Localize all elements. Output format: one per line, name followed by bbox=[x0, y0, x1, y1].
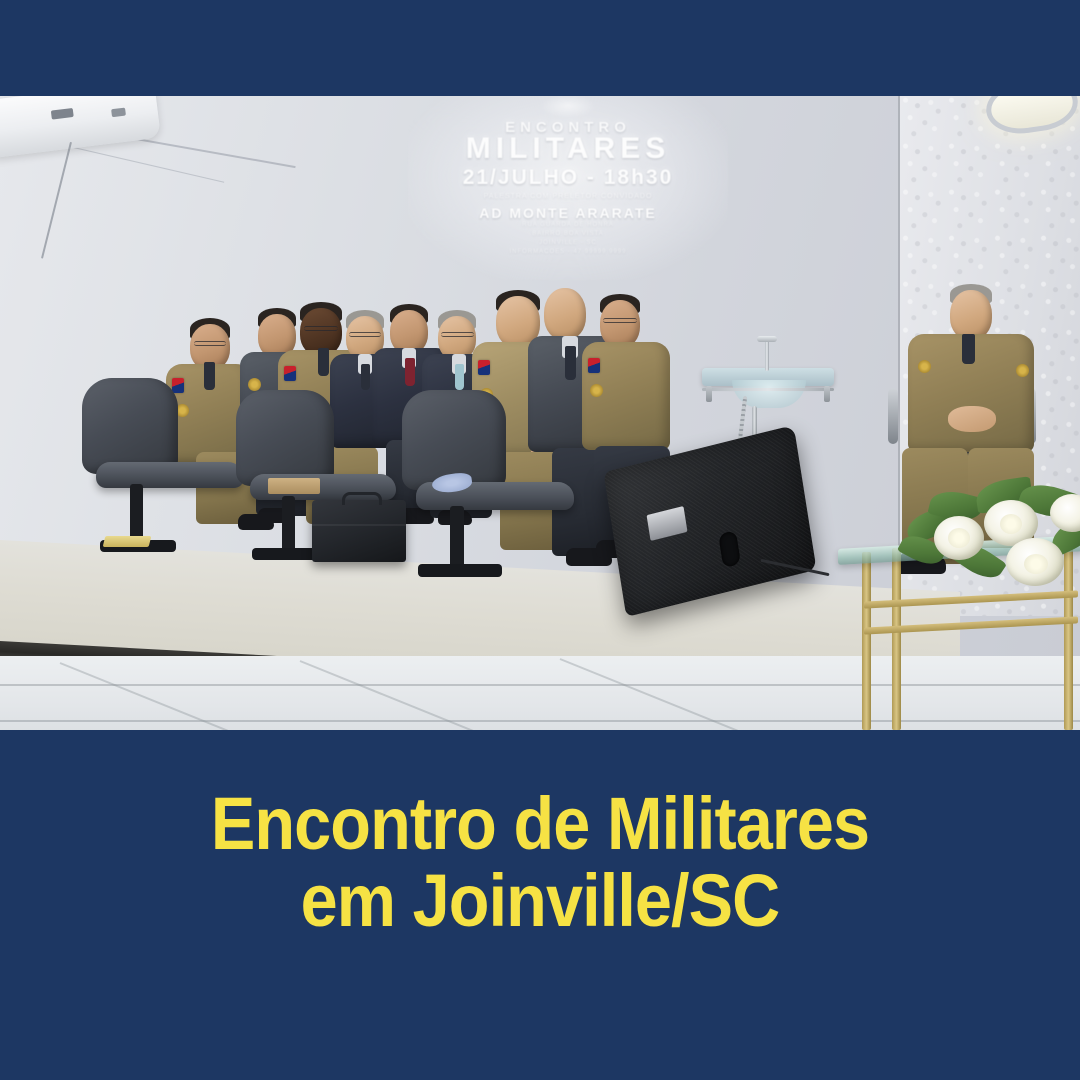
glasses-icon bbox=[304, 326, 338, 331]
chair-leg bbox=[450, 506, 464, 572]
projection-screen: ENCONTRO MILITARES 21/JULHO - 18h30 PALE… bbox=[408, 96, 728, 280]
floor-grout-line bbox=[0, 684, 1080, 686]
glasses-icon bbox=[194, 341, 226, 346]
table-leg bbox=[862, 552, 871, 730]
necktie bbox=[962, 334, 975, 364]
head bbox=[950, 290, 992, 340]
flag-patch-icon bbox=[478, 360, 490, 375]
slide-line-3: 21/JULHO - 18h30 bbox=[408, 166, 728, 190]
slide-line-2: MILITARES bbox=[408, 134, 728, 165]
necktie bbox=[455, 364, 464, 390]
bench-chair-backrest[interactable] bbox=[82, 378, 178, 474]
necktie bbox=[204, 362, 215, 390]
basin-rail bbox=[702, 388, 834, 391]
clasped-hands bbox=[948, 406, 996, 432]
poster-canvas: ENCONTRO MILITARES 21/JULHO - 18h30 PALE… bbox=[0, 0, 1080, 1080]
necktie bbox=[361, 364, 370, 390]
slide-line-9: INFORMACOES - 47 99999 9999 bbox=[408, 248, 728, 257]
faucet-head-icon bbox=[757, 336, 777, 342]
white-rose bbox=[1050, 494, 1080, 532]
caption-line-2: em Joinville/SC bbox=[54, 863, 1026, 940]
head bbox=[544, 288, 586, 340]
slide-line-5: AD MONTE ARARATE bbox=[408, 205, 728, 221]
chair-leg bbox=[282, 496, 295, 556]
basin-bracket-left bbox=[706, 386, 712, 402]
flag-patch-icon bbox=[284, 366, 296, 381]
briefcase-seam bbox=[312, 524, 406, 526]
necktie bbox=[318, 348, 329, 376]
slide-line-6: RUA GUARDA DE HONRA bbox=[408, 221, 728, 230]
flower-arrangement bbox=[900, 476, 1080, 586]
briefcase bbox=[312, 500, 406, 562]
tile-floor bbox=[0, 656, 1080, 730]
unit-emblem-icon bbox=[918, 360, 931, 373]
slide-line-7: BAIRRO BOA VISTA bbox=[408, 230, 728, 239]
rose-center bbox=[1000, 514, 1022, 534]
rose-center bbox=[948, 528, 970, 548]
slide-line-8: JOINVILLE - SC bbox=[408, 239, 728, 248]
slide-logo-icon bbox=[541, 96, 595, 118]
floor-grout-line bbox=[0, 720, 1080, 722]
necktie bbox=[565, 346, 576, 380]
rose-center bbox=[1024, 554, 1048, 574]
unit-emblem-icon bbox=[248, 378, 261, 391]
necktie bbox=[405, 358, 415, 386]
event-photo: ENCONTRO MILITARES 21/JULHO - 18h30 PALE… bbox=[0, 96, 1080, 730]
head bbox=[600, 300, 640, 348]
glasses-icon bbox=[603, 318, 637, 323]
bible-book bbox=[103, 536, 152, 547]
faucet-icon bbox=[765, 339, 769, 371]
slide-line-4: PALESTRA COM PRELETOR CONVIDADO bbox=[408, 193, 728, 200]
slide-line-1: ENCONTRO bbox=[408, 119, 728, 136]
basin-bracket-right bbox=[824, 386, 830, 402]
caption-line-1: Encontro de Militares bbox=[54, 786, 1026, 863]
flag-patch-icon bbox=[172, 378, 184, 393]
chair-base bbox=[418, 564, 502, 577]
glasses-icon bbox=[441, 332, 474, 337]
glasses-icon bbox=[349, 332, 381, 337]
flag-patch-icon bbox=[588, 358, 600, 373]
bench-chair-seat[interactable] bbox=[96, 462, 244, 488]
cardboard-box bbox=[268, 478, 320, 494]
top-banner bbox=[0, 0, 1080, 96]
armchair-arm-left bbox=[888, 388, 898, 444]
bench-chair-backrest[interactable] bbox=[236, 390, 334, 486]
unit-emblem-icon bbox=[590, 384, 603, 397]
poster-caption: Encontro de Militares em Joinville/SC bbox=[54, 786, 1026, 940]
unit-emblem-icon bbox=[1016, 364, 1029, 377]
